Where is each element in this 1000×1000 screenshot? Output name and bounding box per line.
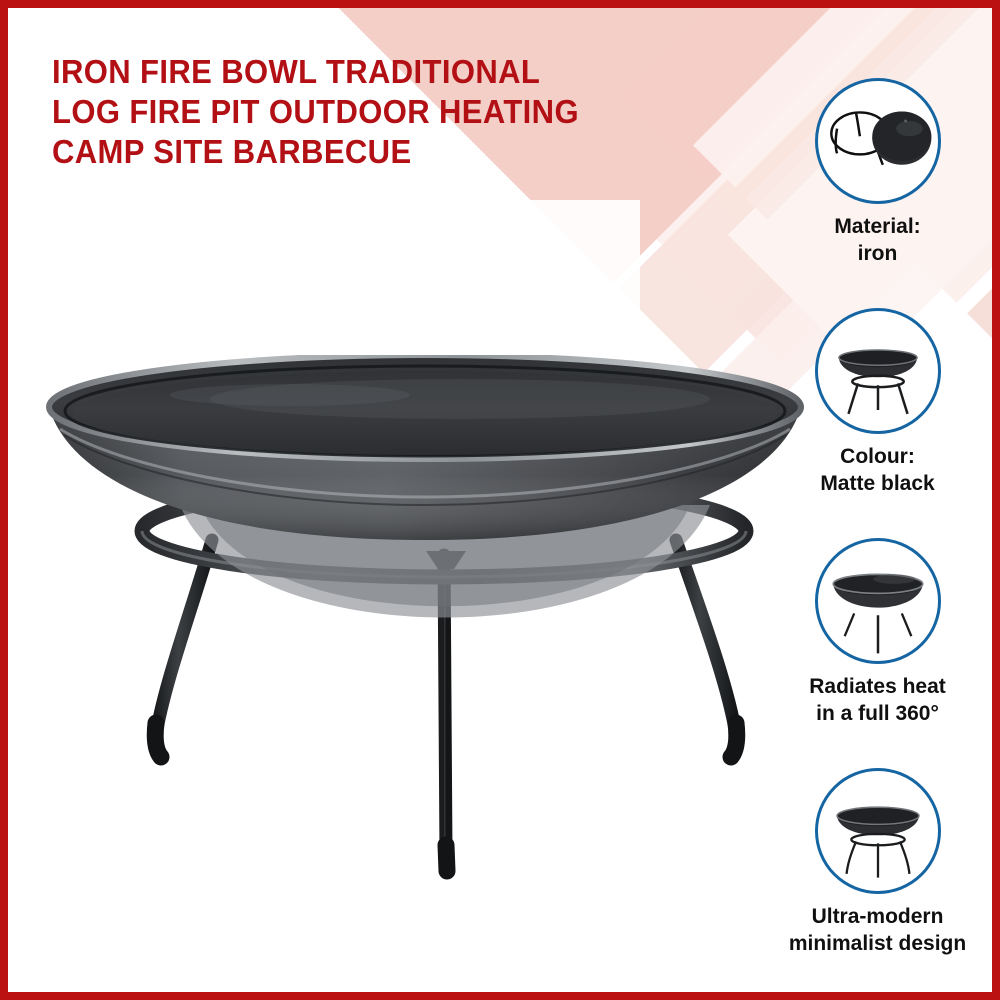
feature-badge-design[interactable]: Ultra-modern minimalist design: [775, 768, 980, 957]
feature-caption-line-2: iron: [858, 242, 898, 265]
feature-caption-line-1: Ultra-modern: [812, 905, 944, 928]
feature-icon-circle: [815, 78, 941, 204]
feature-caption-line-2: minimalist design: [789, 932, 966, 955]
fire-bowl-illustration: [30, 355, 820, 915]
feature-caption-line-1: Colour:: [840, 445, 915, 468]
feature-caption: Radiates heat in a full 360°: [775, 673, 980, 727]
fire-bowl-design-icon: [818, 771, 938, 891]
fire-bowl-heat-icon: [818, 541, 938, 661]
feature-badge-list: Material: iron Colour: Matte black: [775, 78, 980, 978]
feature-icon-circle: [815, 308, 941, 434]
bowl-rim: [49, 355, 801, 459]
product-marketing-image: IRON FIRE BOWL TRADITIONAL LOG FIRE PIT …: [0, 0, 1000, 1000]
page-title: IRON FIRE BOWL TRADITIONAL LOG FIRE PIT …: [52, 52, 712, 172]
fire-bowl-material-icon: [818, 81, 938, 201]
title-line-2: LOG FIRE PIT OUTDOOR HEATING: [52, 92, 672, 132]
title-line-1: IRON FIRE BOWL TRADITIONAL: [52, 52, 672, 92]
feature-badge-colour[interactable]: Colour: Matte black: [775, 308, 980, 497]
feature-icon-circle: [815, 768, 941, 894]
product-image-fire-bowl: [30, 355, 820, 915]
feature-caption-line-2: in a full 360°: [816, 702, 939, 725]
feature-badge-heat[interactable]: Radiates heat in a full 360°: [775, 538, 980, 727]
feature-caption: Ultra-modern minimalist design: [775, 903, 980, 957]
feature-caption: Colour: Matte black: [775, 443, 980, 497]
feature-icon-circle: [815, 538, 941, 664]
feature-caption-line-2: Matte black: [820, 472, 934, 495]
fire-bowl-colour-icon: [818, 311, 938, 431]
feature-caption-line-1: Material:: [834, 215, 920, 238]
feature-caption-line-1: Radiates heat: [809, 675, 946, 698]
title-line-3: CAMP SITE BARBECUE: [52, 132, 672, 172]
feature-badge-material[interactable]: Material: iron: [775, 78, 980, 267]
feature-caption: Material: iron: [775, 213, 980, 267]
